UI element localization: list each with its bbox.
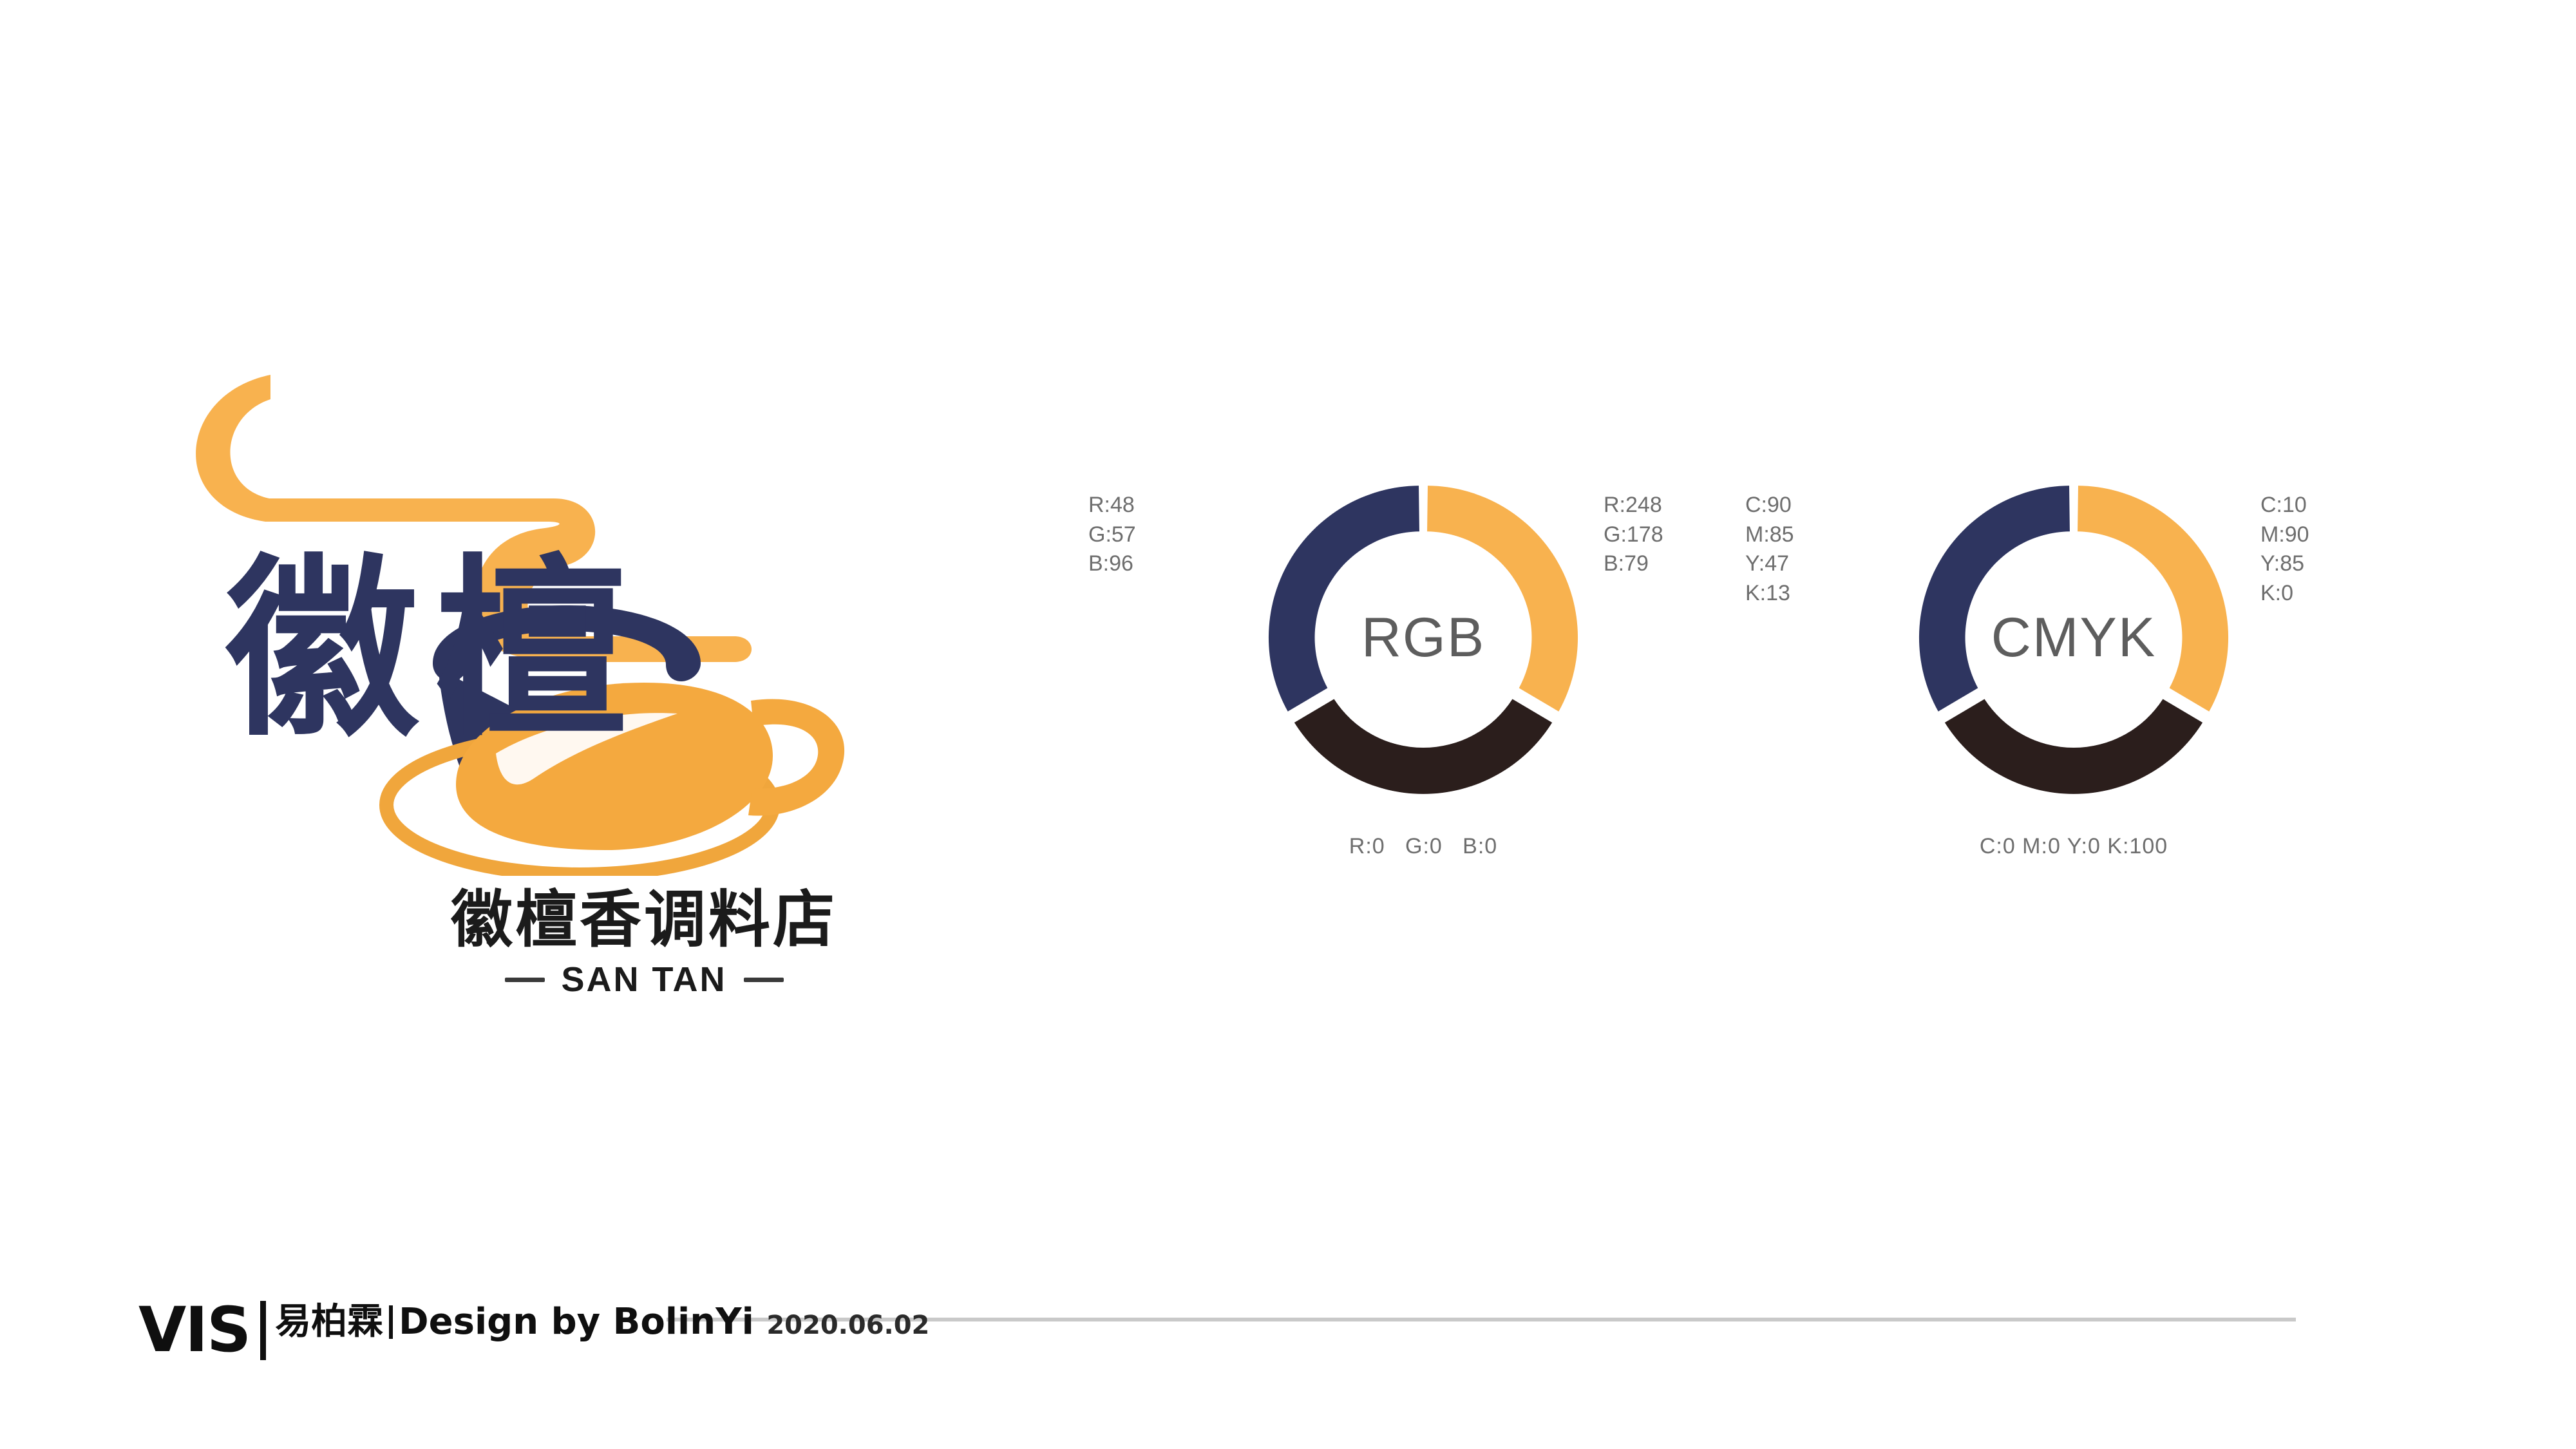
- cmyk-label-orange: C:10 M:90 Y:85 K:0: [2260, 491, 2415, 608]
- cmyk-label-black: C:0 M:0 Y:0 K:100: [1739, 832, 2409, 862]
- cmyk-center-label: CMYK: [1906, 470, 2241, 805]
- rgb-center-label: RGB: [1256, 470, 1591, 805]
- footer-credit-block: 易柏霖Design by BolinYi 2020.06.02: [275, 1301, 929, 1340]
- dash-right-icon: [744, 978, 784, 982]
- rgb-label-black: R:0 G:0 B:0: [1088, 832, 1758, 862]
- logo-subtitle: 徽檀香调料店: [193, 869, 1095, 959]
- page-footer: VIS 易柏霖Design by BolinYi 2020.06.02: [0, 1282, 2576, 1449]
- footer-identity: VIS 易柏霖Design by BolinYi 2020.06.02: [138, 1301, 929, 1360]
- color-swatch-rgb: R:48 G:57 B:96 R:248 G:178 B:79 R:0 G:0 …: [1088, 464, 1668, 1018]
- credit-divider-icon: [389, 1305, 393, 1339]
- footer-credit-row: 易柏霖Design by BolinYi: [275, 1301, 766, 1343]
- design-credit: Design by BolinYi: [399, 1301, 754, 1343]
- logo-latin-line: SAN TAN: [193, 960, 1095, 999]
- page-canvas: 徽檀 徽檀香调料店 SAN TAN R:48 G:57 B:96 R:248 G…: [0, 0, 2576, 1449]
- vis-label: VIS: [138, 1301, 250, 1359]
- footer-date: 2020.06.02: [766, 1311, 929, 1340]
- cmyk-label-blue: C:90 M:85 Y:47 K:13: [1745, 491, 1893, 608]
- logo-latin-name: SAN TAN: [562, 960, 727, 999]
- brand-logo: 徽檀 徽檀香调料店 SAN TAN: [193, 361, 1095, 1043]
- vis-divider-icon: [260, 1301, 266, 1360]
- dash-left-icon: [505, 978, 545, 982]
- logo-wordmark: 徽檀: [225, 554, 643, 747]
- rgb-label-blue: R:48 G:57 B:96: [1088, 491, 1236, 579]
- color-swatch-cmyk: C:90 M:85 Y:47 K:13 C:10 M:90 Y:85 K:0 C…: [1739, 464, 2318, 1018]
- designer-name-cn: 易柏霖: [275, 1301, 383, 1343]
- rgb-label-orange: R:248 G:178 B:79: [1604, 491, 1758, 579]
